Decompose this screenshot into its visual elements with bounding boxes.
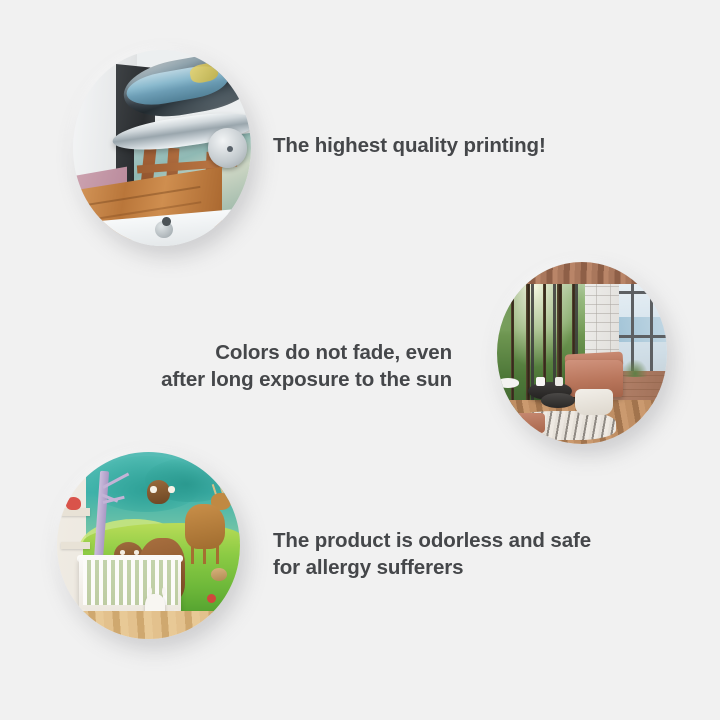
promo-stage: The highest quality printing!: [0, 0, 720, 720]
caption-odorless-safe: The product is odorless and safe for all…: [273, 528, 591, 581]
caption-fade-resistant: Colors do not fade, even after long expo…: [150, 340, 452, 393]
caption-quality-printing: The highest quality printing!: [273, 133, 546, 160]
printing-machine-photo: [73, 50, 251, 246]
nursery-woodland-mural-photo: [57, 452, 240, 639]
loft-forest-mural-photo: [497, 262, 667, 444]
